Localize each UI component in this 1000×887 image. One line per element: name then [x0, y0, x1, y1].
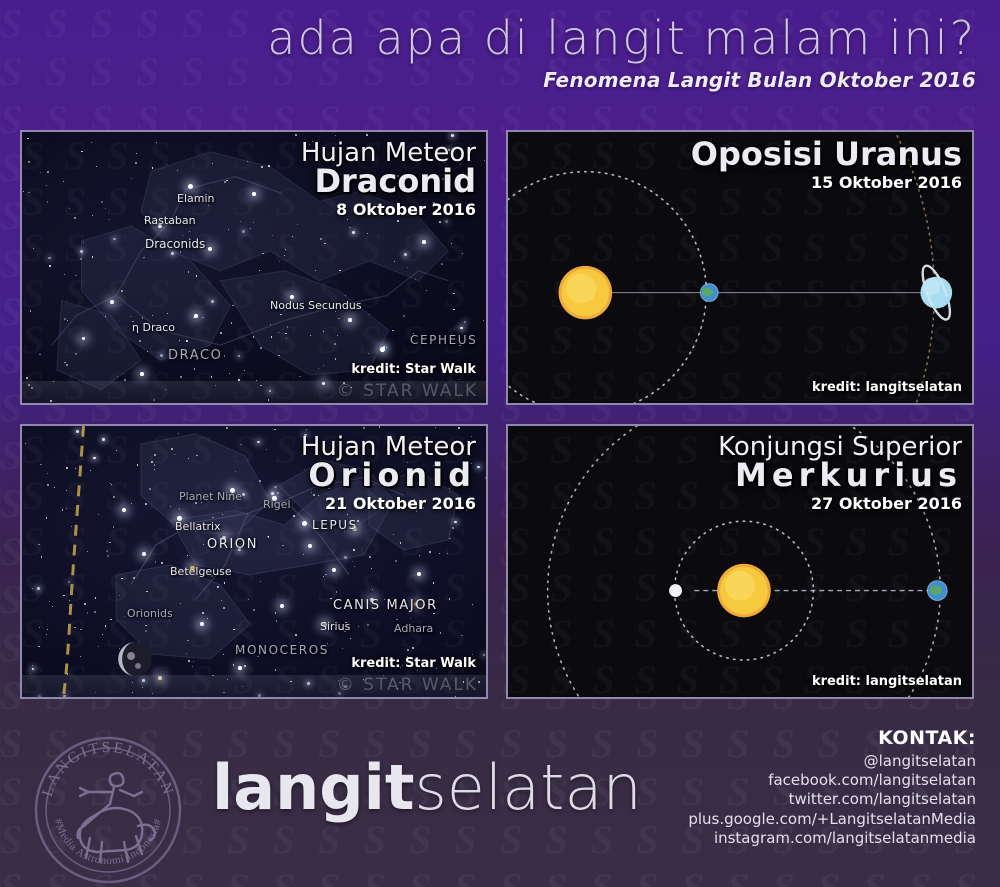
star-walk-watermark: © STAR WALK	[337, 381, 478, 401]
star-label: Adhara	[394, 622, 433, 635]
panel-title: Oposisi Uranus	[691, 138, 962, 172]
panel-credit: kredit: Star Walk	[351, 362, 476, 377]
star-label: Rigel	[263, 498, 291, 511]
star-label: Planet Nine	[179, 490, 242, 503]
star-label: Rastaban	[144, 214, 196, 227]
brand-light: selatan	[415, 751, 642, 824]
star-label: Elamin	[177, 192, 215, 205]
panel-uranus[interactable]: SSSSSSSSSSSSSSSSSSSSSSSSSSSSSSSSSSSSSSSS…	[506, 130, 974, 405]
panel-orionid-heading: Hujan Meteor Orionid 21 Oktober 2016	[301, 434, 476, 513]
panel-date: 21 Oktober 2016	[301, 494, 476, 513]
star-label: Betelgeuse	[170, 565, 232, 578]
star-label: CANIS MAJOR	[333, 598, 438, 613]
poster-header: ada apa di langit malam ini? Fenomena La…	[0, 14, 976, 92]
panel-date: 27 Oktober 2016	[718, 494, 962, 513]
panel-date: 8 Oktober 2016	[301, 200, 476, 219]
star-walk-watermark: © STAR WALK	[337, 675, 478, 695]
poster-footer: LANGITSELATAN #Media Astronomi Indonesia…	[0, 705, 1000, 887]
panel-title: Merkurius	[718, 459, 962, 493]
page-subtitle: Fenomena Langit Bulan Oktober 2016	[0, 68, 976, 92]
contact-facebook[interactable]: facebook.com/langitselatan	[688, 771, 976, 790]
star-label: η Draco	[132, 321, 175, 334]
star-label: MONOCEROS	[235, 643, 329, 657]
earth-icon	[700, 284, 718, 302]
contact-instagram[interactable]: instagram.com/langitselatanmedia	[688, 829, 976, 848]
panel-draconid-heading: Hujan Meteor Draconid 8 Oktober 2016	[301, 140, 476, 219]
page-title: ada apa di langit malam ini?	[0, 14, 976, 62]
uranus-icon	[917, 263, 955, 323]
panel-date: 15 Oktober 2016	[691, 173, 962, 192]
mercury-icon	[669, 584, 682, 597]
langitselatan-logo[interactable]: LANGITSELATAN #Media Astronomi Indonesia…	[28, 730, 188, 887]
panel-title: Draconid	[301, 165, 476, 199]
sun-icon	[717, 564, 771, 618]
sun-icon	[559, 266, 613, 320]
contact-heading: KONTAK:	[688, 727, 976, 749]
star-label: CEPHEUS	[410, 333, 477, 347]
contact-google-plus[interactable]: plus.google.com/+LangitselatanMedia	[688, 810, 976, 829]
star-label: LEPUS	[312, 518, 358, 532]
panel-merkurius-heading: Konjungsi Superior Merkurius 27 Oktober …	[718, 434, 962, 513]
panel-credit: kredit: Star Walk	[351, 656, 476, 671]
contact-twitter[interactable]: twitter.com/langitselatan	[688, 790, 976, 809]
star-label: Orionids	[127, 607, 173, 620]
contact-block: KONTAK: @langitselatan facebook.com/lang…	[688, 727, 976, 848]
brand-wordmark: langitselatan	[212, 757, 642, 819]
logo-top-text: LANGITSELATAN	[39, 739, 178, 799]
panel-draconid[interactable]: SSSSSSSSSSSSSSSSSSSSSSSSSSSSSSSSSSSSSSSS…	[20, 130, 488, 405]
panel-orionid[interactable]: SSSSSSSSSSSSSSSSSSSSSSSSSSSSSSSSSSSSSSSS…	[20, 424, 488, 699]
star-label: Bellatrix	[175, 520, 221, 533]
brand-bold: langit	[212, 751, 415, 824]
panel-uranus-heading: Oposisi Uranus 15 Oktober 2016	[691, 140, 962, 192]
star-label: Draconids	[145, 237, 205, 251]
star-label: DRACO	[168, 348, 223, 363]
panel-credit: kredit: langitselatan	[812, 380, 962, 395]
star-label: Nodus Secundus	[270, 299, 362, 312]
contact-instagram-handle[interactable]: @langitselatan	[688, 752, 976, 771]
star-label: Sirius	[320, 620, 350, 633]
panel-credit: kredit: langitselatan	[812, 674, 962, 689]
earth-icon	[927, 581, 947, 601]
star-label: ORION	[207, 537, 258, 552]
panel-title: Orionid	[301, 459, 476, 493]
panel-merkurius[interactable]: SSSSSSSSSSSSSSSSSSSSSSSSSSSSSSSSSSSSSSSS…	[506, 424, 974, 699]
